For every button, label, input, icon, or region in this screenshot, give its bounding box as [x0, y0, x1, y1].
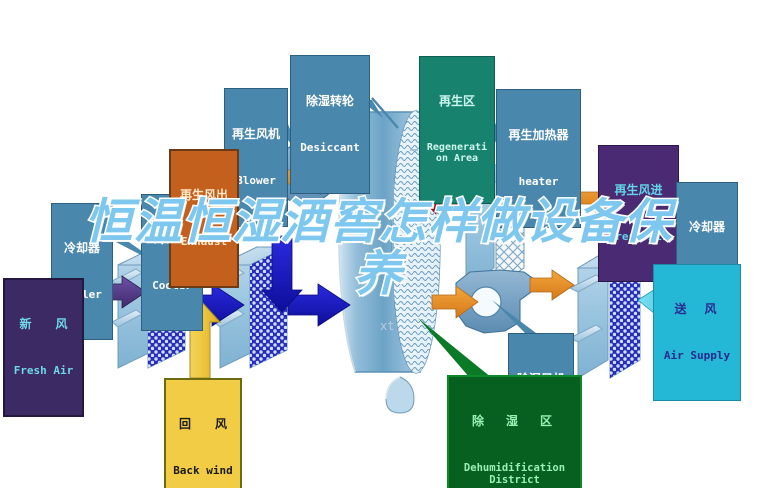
label-dehumidification-district[interactable]: 除 湿 区 Dehumidification District: [447, 375, 582, 488]
label-cooler-right-cn: 冷却器: [679, 221, 735, 234]
label-regen-blower-cn: 再生风机: [228, 128, 284, 141]
label-air-supply-en: Air Supply: [657, 350, 737, 362]
dehumidifier-flow-diagram: xt 除湿转轮 Desiccant 再生风机 Blower 再生区 Regene…: [0, 0, 757, 488]
label-regen-fresh-cn: 再生风进: [602, 184, 675, 197]
label-exhaust[interactable]: 再生风出 Exhaust: [169, 149, 239, 288]
label-dehum-district-en: Dehumidification District: [452, 462, 577, 486]
label-exhaust-cn: 再生风出: [173, 189, 235, 202]
label-fresh-air[interactable]: 新 风 Fresh Air: [3, 278, 84, 417]
label-regen-heater-cn: 再生加热器: [500, 129, 577, 142]
label-desiccant-cn: 除湿转轮: [294, 95, 366, 108]
label-regeneration-area[interactable]: 再生区 Regenerati on Area: [419, 56, 495, 204]
label-dehum-district-cn: 除 湿 区: [452, 415, 577, 428]
label-back-wind[interactable]: 回 风 Back wind: [164, 378, 242, 488]
label-back-wind-en: Back wind: [168, 465, 238, 477]
label-desiccant[interactable]: 除湿转轮 Desiccant: [290, 55, 370, 194]
label-air-supply-cn: 送 风: [657, 303, 737, 316]
label-regen-heater-en: heater: [500, 176, 577, 188]
label-cooler-left-1-cn: 冷却器: [54, 242, 110, 255]
label-fresh-air-en: Fresh Air: [8, 365, 79, 377]
label-regen-fresh-en: Fresh Air: [602, 231, 675, 243]
label-back-wind-cn: 回 风: [168, 418, 238, 431]
watermark-text: xt: [380, 319, 394, 333]
label-fresh-air-cn: 新 风: [8, 318, 79, 331]
label-desiccant-en: Desiccant: [294, 142, 366, 154]
label-regen-area-en: Regenerati on Area: [422, 142, 492, 164]
label-exhaust-en: Exhaust: [173, 236, 235, 248]
label-air-supply[interactable]: 送 风 Air Supply: [653, 264, 741, 401]
label-regeneration-heater[interactable]: 再生加热器 heater: [496, 89, 581, 228]
label-regen-fresh-air[interactable]: 再生风进 Fresh Air: [598, 145, 679, 282]
label-regen-area-cn: 再生区: [422, 95, 492, 108]
arrow-dry-air-2: [530, 270, 574, 300]
